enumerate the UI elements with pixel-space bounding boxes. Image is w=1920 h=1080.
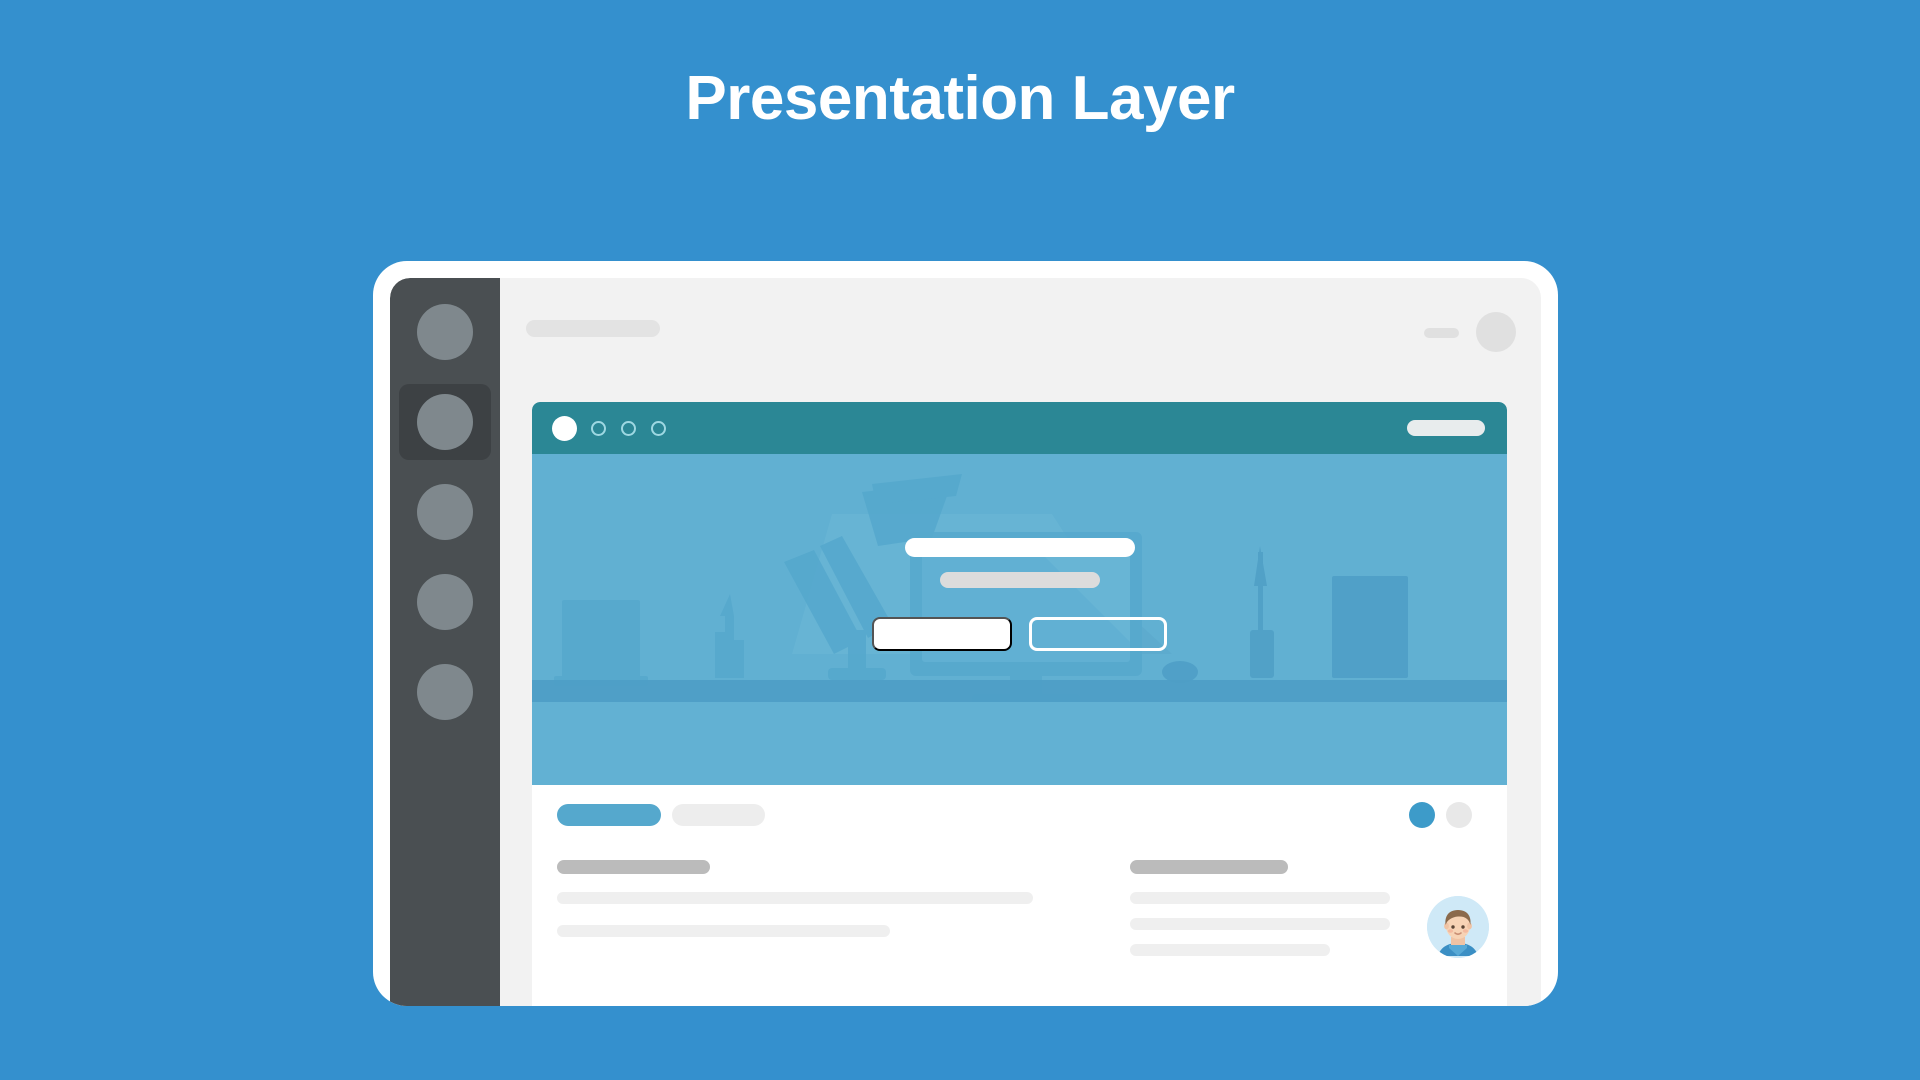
app-logo-placeholder (526, 320, 660, 337)
browser-address-bar[interactable] (1407, 420, 1485, 436)
browser-nav-icon-3[interactable] (651, 421, 666, 436)
sidebar-item-1[interactable] (399, 294, 491, 370)
sidebar-icon-2 (417, 394, 473, 450)
browser-window (532, 402, 1507, 1006)
tab-active[interactable] (557, 804, 661, 826)
hero-subheadline-placeholder (940, 572, 1100, 588)
sidebar-icon-1 (417, 304, 473, 360)
browser-nav-icon-1[interactable] (591, 421, 606, 436)
pagination-dot-active[interactable] (1409, 802, 1435, 828)
left-column-heading (557, 860, 710, 874)
app-sidebar (390, 278, 500, 1006)
user-avatar-icon (1427, 896, 1489, 958)
desk-illustration (532, 454, 1507, 785)
right-column-line-2 (1130, 918, 1390, 930)
chat-avatar[interactable] (1427, 896, 1489, 958)
tablet-device (373, 261, 1558, 1006)
sidebar-icon-5 (417, 664, 473, 720)
tab-inactive[interactable] (672, 804, 765, 826)
minimize-button[interactable] (1424, 328, 1459, 338)
topbar-avatar[interactable] (1476, 312, 1516, 352)
left-column-line-1 (557, 892, 1033, 904)
pagination-dot-inactive[interactable] (1446, 802, 1472, 828)
tablet-screen (390, 278, 1541, 1006)
left-column-line-2 (557, 925, 890, 937)
hero-headline-placeholder (905, 538, 1135, 557)
hero-secondary-button[interactable] (1029, 617, 1167, 651)
right-column-line-3 (1130, 944, 1330, 956)
hero-primary-button[interactable] (872, 617, 1012, 651)
sidebar-item-3[interactable] (399, 474, 491, 550)
sidebar-icon-3 (417, 484, 473, 540)
sidebar-item-4[interactable] (399, 564, 491, 640)
content-section (532, 785, 1507, 1006)
browser-nav-icon-2[interactable] (621, 421, 636, 436)
sidebar-icon-4 (417, 574, 473, 630)
sidebar-item-5[interactable] (399, 654, 491, 730)
browser-home-icon[interactable] (552, 416, 577, 441)
right-column-line-1 (1130, 892, 1390, 904)
page-title: Presentation Layer (0, 68, 1920, 130)
hero-section (532, 454, 1507, 785)
app-topbar (500, 278, 1541, 382)
browser-toolbar (532, 402, 1507, 454)
right-column-heading (1130, 860, 1288, 874)
sidebar-item-2[interactable] (399, 384, 491, 460)
